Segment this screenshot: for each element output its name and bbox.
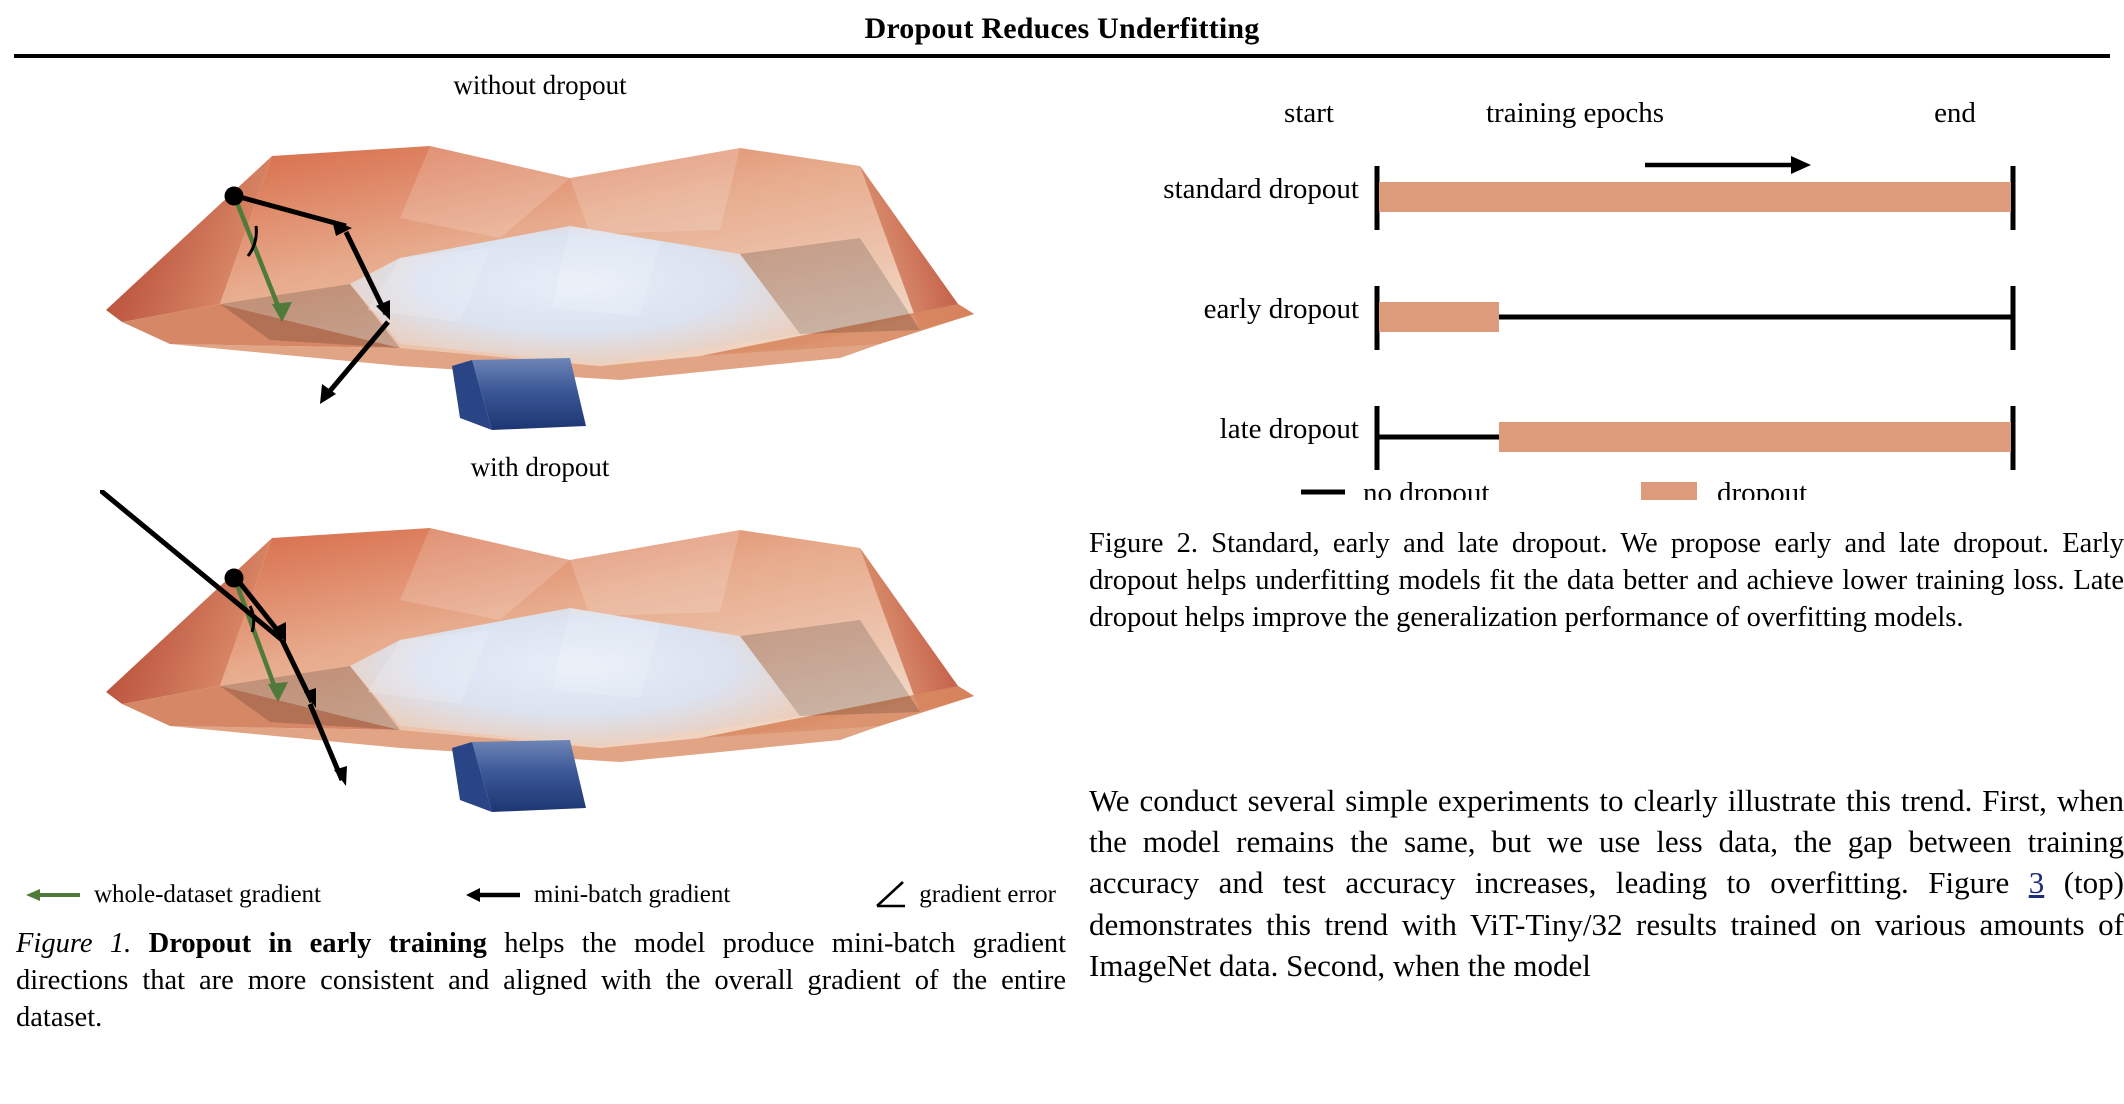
panel-title-without-dropout: without dropout: [10, 70, 1070, 101]
start-point-without: [225, 187, 244, 206]
start-point-with: [225, 569, 244, 588]
loss-landscape-without-dropout: [10, 108, 1070, 448]
legend-item-whole-dataset-gradient: whole-dataset gradient: [24, 881, 321, 909]
figure1-panel-with-dropout: with dropout: [10, 452, 1070, 852]
segment-dropout-standard: [1379, 182, 2011, 212]
legend-item-gradient-error: gradient error: [873, 880, 1056, 910]
black-left-arrow-icon: [464, 885, 522, 905]
angle-icon: [873, 880, 907, 910]
loss-landscape-svg-without-dropout: [100, 108, 980, 443]
left-column: without dropout: [10, 70, 1070, 1104]
row-label-early-dropout: early dropout: [1204, 293, 1359, 325]
row-label-standard-dropout: standard dropout: [1163, 173, 1359, 205]
right-column: start training epochs end standard dropo…: [1085, 70, 2124, 1104]
figure1-panel-without-dropout: without dropout: [10, 70, 1070, 460]
figure2-row-early-dropout: early dropout: [1204, 286, 2013, 350]
loss-landscape-with-dropout: [10, 490, 1070, 840]
running-header: Dropout Reduces Underfitting: [0, 0, 2124, 62]
figure2-svg: start training epochs end standard dropo…: [1085, 70, 2124, 500]
figure2-caption-label: Figure 2.: [1089, 528, 1198, 559]
panel-title-with-dropout: with dropout: [10, 452, 1070, 483]
figure2-legend-label-no-dropout: no dropout: [1363, 477, 1489, 500]
axis-label-end: end: [1934, 97, 1976, 129]
figure2-legend-label-dropout: dropout: [1717, 477, 1807, 500]
segment-dropout-late: [1499, 422, 2011, 452]
figure1-caption-bold: Dropout in early training: [149, 928, 487, 959]
body-paragraph-part1: We conduct several simple experiments to…: [1089, 783, 2124, 900]
figure2-caption-bold: Standard, early and late dropout.: [1211, 528, 1607, 559]
figure1-legend: whole-dataset gradient mini-batch gradie…: [10, 870, 1070, 920]
figure2-legend: no dropout dropout: [1301, 477, 1807, 500]
citation-link-figure-3[interactable]: 3: [2029, 865, 2045, 900]
legend-label-gradient-error: gradient error: [919, 881, 1056, 909]
figure1-caption-label: Figure 1.: [16, 928, 131, 959]
segment-dropout-early: [1379, 302, 1499, 332]
row-label-late-dropout: late dropout: [1220, 413, 1359, 445]
header-rule: [14, 54, 2110, 58]
right-arrow-icon: [1645, 156, 1811, 174]
figure2-caption: Figure 2. Standard, early and late dropo…: [1089, 525, 2124, 636]
axis-label-start: start: [1284, 97, 1334, 129]
body-paragraph: We conduct several simple experiments to…: [1089, 780, 2124, 986]
figure2-diagram: start training epochs end standard dropo…: [1085, 70, 2124, 500]
axis-label-training-epochs: training epochs: [1486, 97, 1664, 129]
legend-label-whole-dataset-gradient: whole-dataset gradient: [94, 881, 321, 909]
bar-swatch-icon: [1641, 482, 1697, 500]
loss-landscape-svg-with-dropout: [100, 490, 980, 835]
green-left-arrow-icon: [24, 885, 82, 905]
figure1-caption: Figure 1. Dropout in early training help…: [16, 925, 1066, 1036]
legend-item-mini-batch-gradient: mini-batch gradient: [464, 881, 730, 909]
figure2-row-standard-dropout: standard dropout: [1163, 166, 2013, 230]
legend-label-mini-batch-gradient: mini-batch gradient: [534, 881, 730, 909]
figure2-row-late-dropout: late dropout: [1220, 406, 2013, 470]
page-title: Dropout Reduces Underfitting: [0, 12, 2124, 46]
